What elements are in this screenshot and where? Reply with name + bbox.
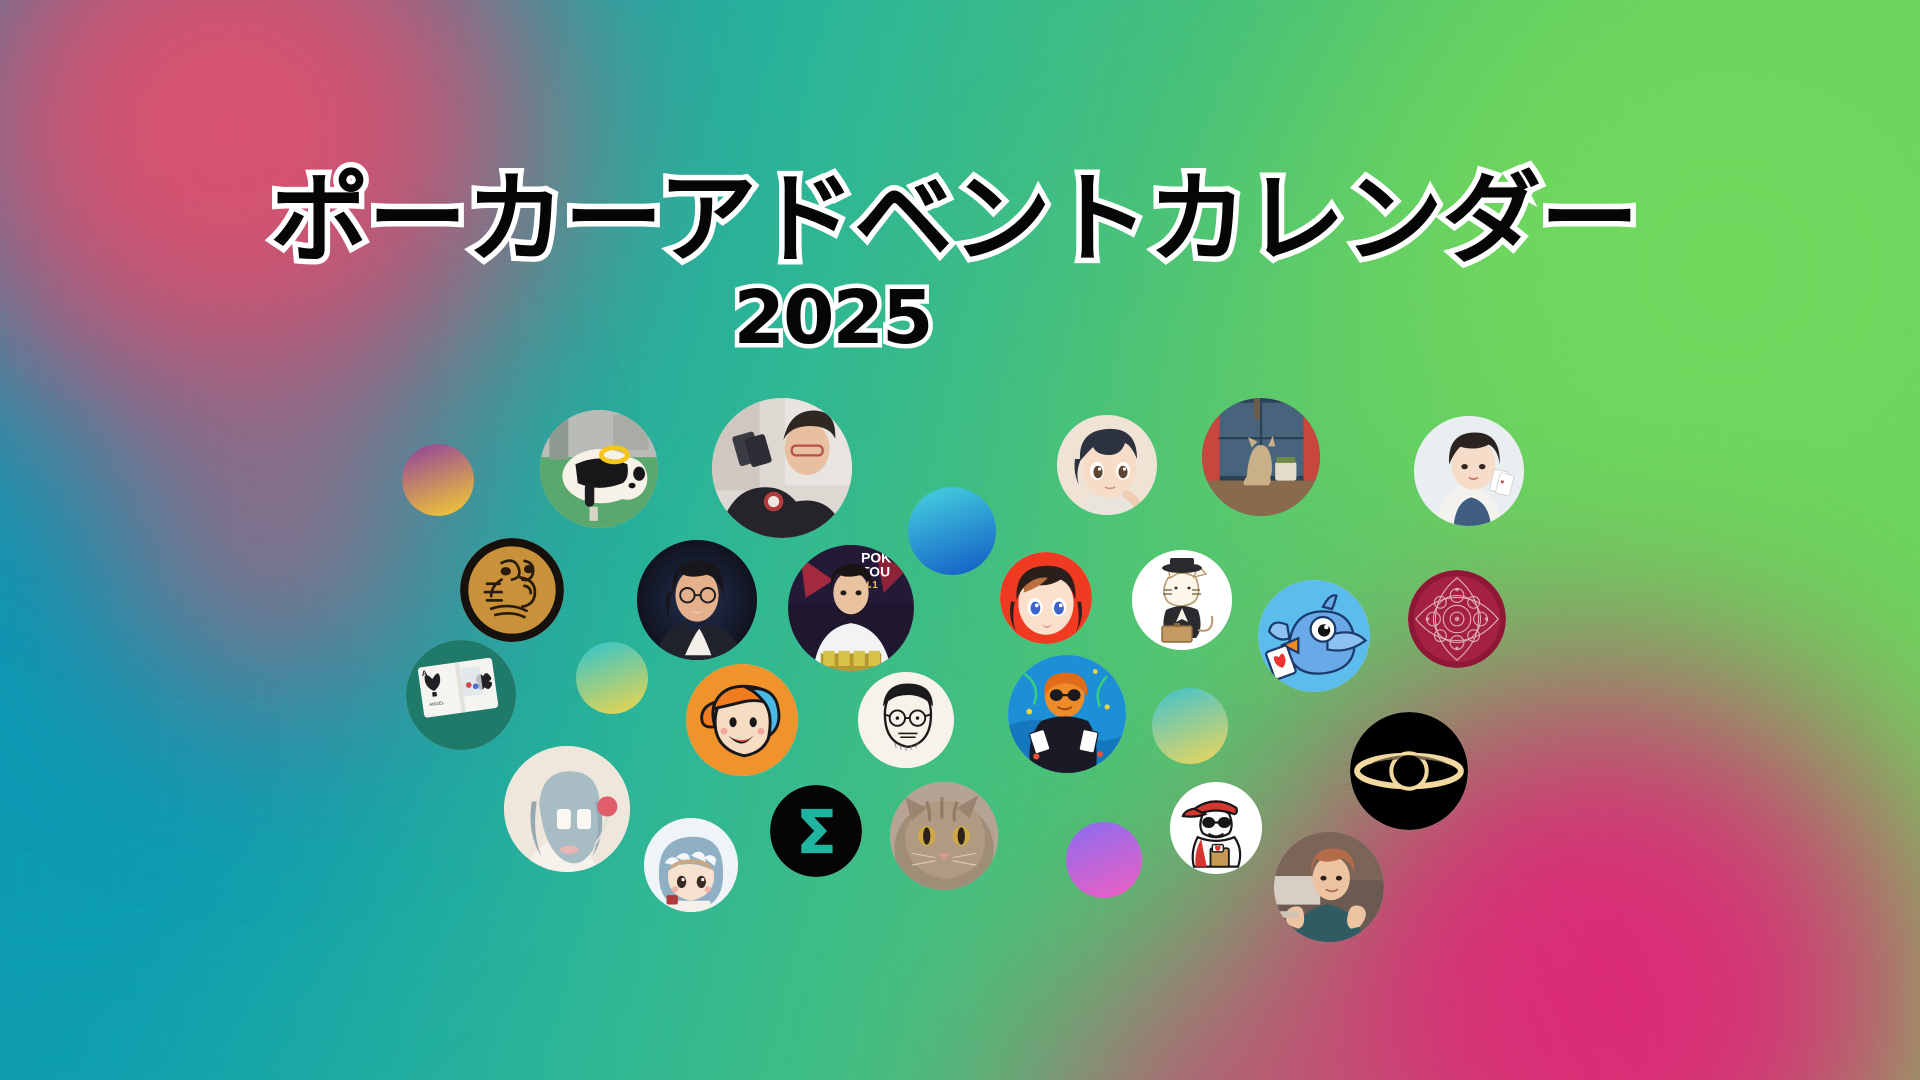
- avatar-line-drawing-man-face[interactable]: [858, 672, 954, 768]
- avatar-panda-playground-photo[interactable]: [540, 410, 658, 528]
- avatar-anime-boy-portrait[interactable]: [1057, 415, 1157, 515]
- avatar-tabby-cat-photo[interactable]: [890, 782, 998, 890]
- avatar-sigma-logo-black[interactable]: [770, 785, 862, 877]
- avatar-orange-cap-character-logo[interactable]: [686, 664, 798, 776]
- avatar-vtuber-girl-red-bg[interactable]: [1000, 552, 1092, 644]
- avatar-red-mandala-pattern[interactable]: [1408, 570, 1506, 668]
- avatar-poker-tour-winner-photo[interactable]: POKTOU201: [788, 545, 914, 671]
- avatar-blue-surreal-artwork[interactable]: [1008, 655, 1126, 773]
- avatar-business-cat-illustration[interactable]: [1132, 550, 1232, 650]
- avatar-red-cap-mascot-logo[interactable]: [1170, 782, 1262, 874]
- avatar-cat-on-windowsill-photo[interactable]: [1202, 398, 1320, 516]
- poster-canvas: ポーカーアドベントカレンダー 2025 ♥POKTOU201AANGEL: [0, 0, 1920, 1080]
- avatar-woman-with-cards-photo[interactable]: ♥: [1414, 416, 1524, 526]
- avatar-gradient-teal-yellow[interactable]: [576, 642, 648, 714]
- avatar-ace-of-spades-card-photo[interactable]: AANGEL: [406, 640, 516, 750]
- avatar-shark-hoodie-chibi[interactable]: [644, 818, 738, 912]
- avatar-gradient-teal-yellow-2[interactable]: [1152, 688, 1228, 764]
- avatar-man-dark-portrait-photo[interactable]: [637, 540, 757, 660]
- avatar-bluebird-with-ace-card[interactable]: [1258, 580, 1370, 692]
- avatar-black-hole-logo[interactable]: [1350, 712, 1468, 830]
- avatar-gradient-cyan-blue[interactable]: [908, 487, 996, 575]
- avatar-anime-girl-grey-hair[interactable]: [504, 746, 630, 872]
- avatar-man-thumbs-up-photo[interactable]: [1274, 832, 1384, 942]
- avatar-gold-crest-emblem[interactable]: [460, 538, 564, 642]
- avatar-man-holding-cards-photo[interactable]: [712, 398, 852, 538]
- avatar-gradient-purple-yellow[interactable]: [402, 444, 474, 516]
- avatar-gradient-purple-pink[interactable]: [1066, 822, 1142, 898]
